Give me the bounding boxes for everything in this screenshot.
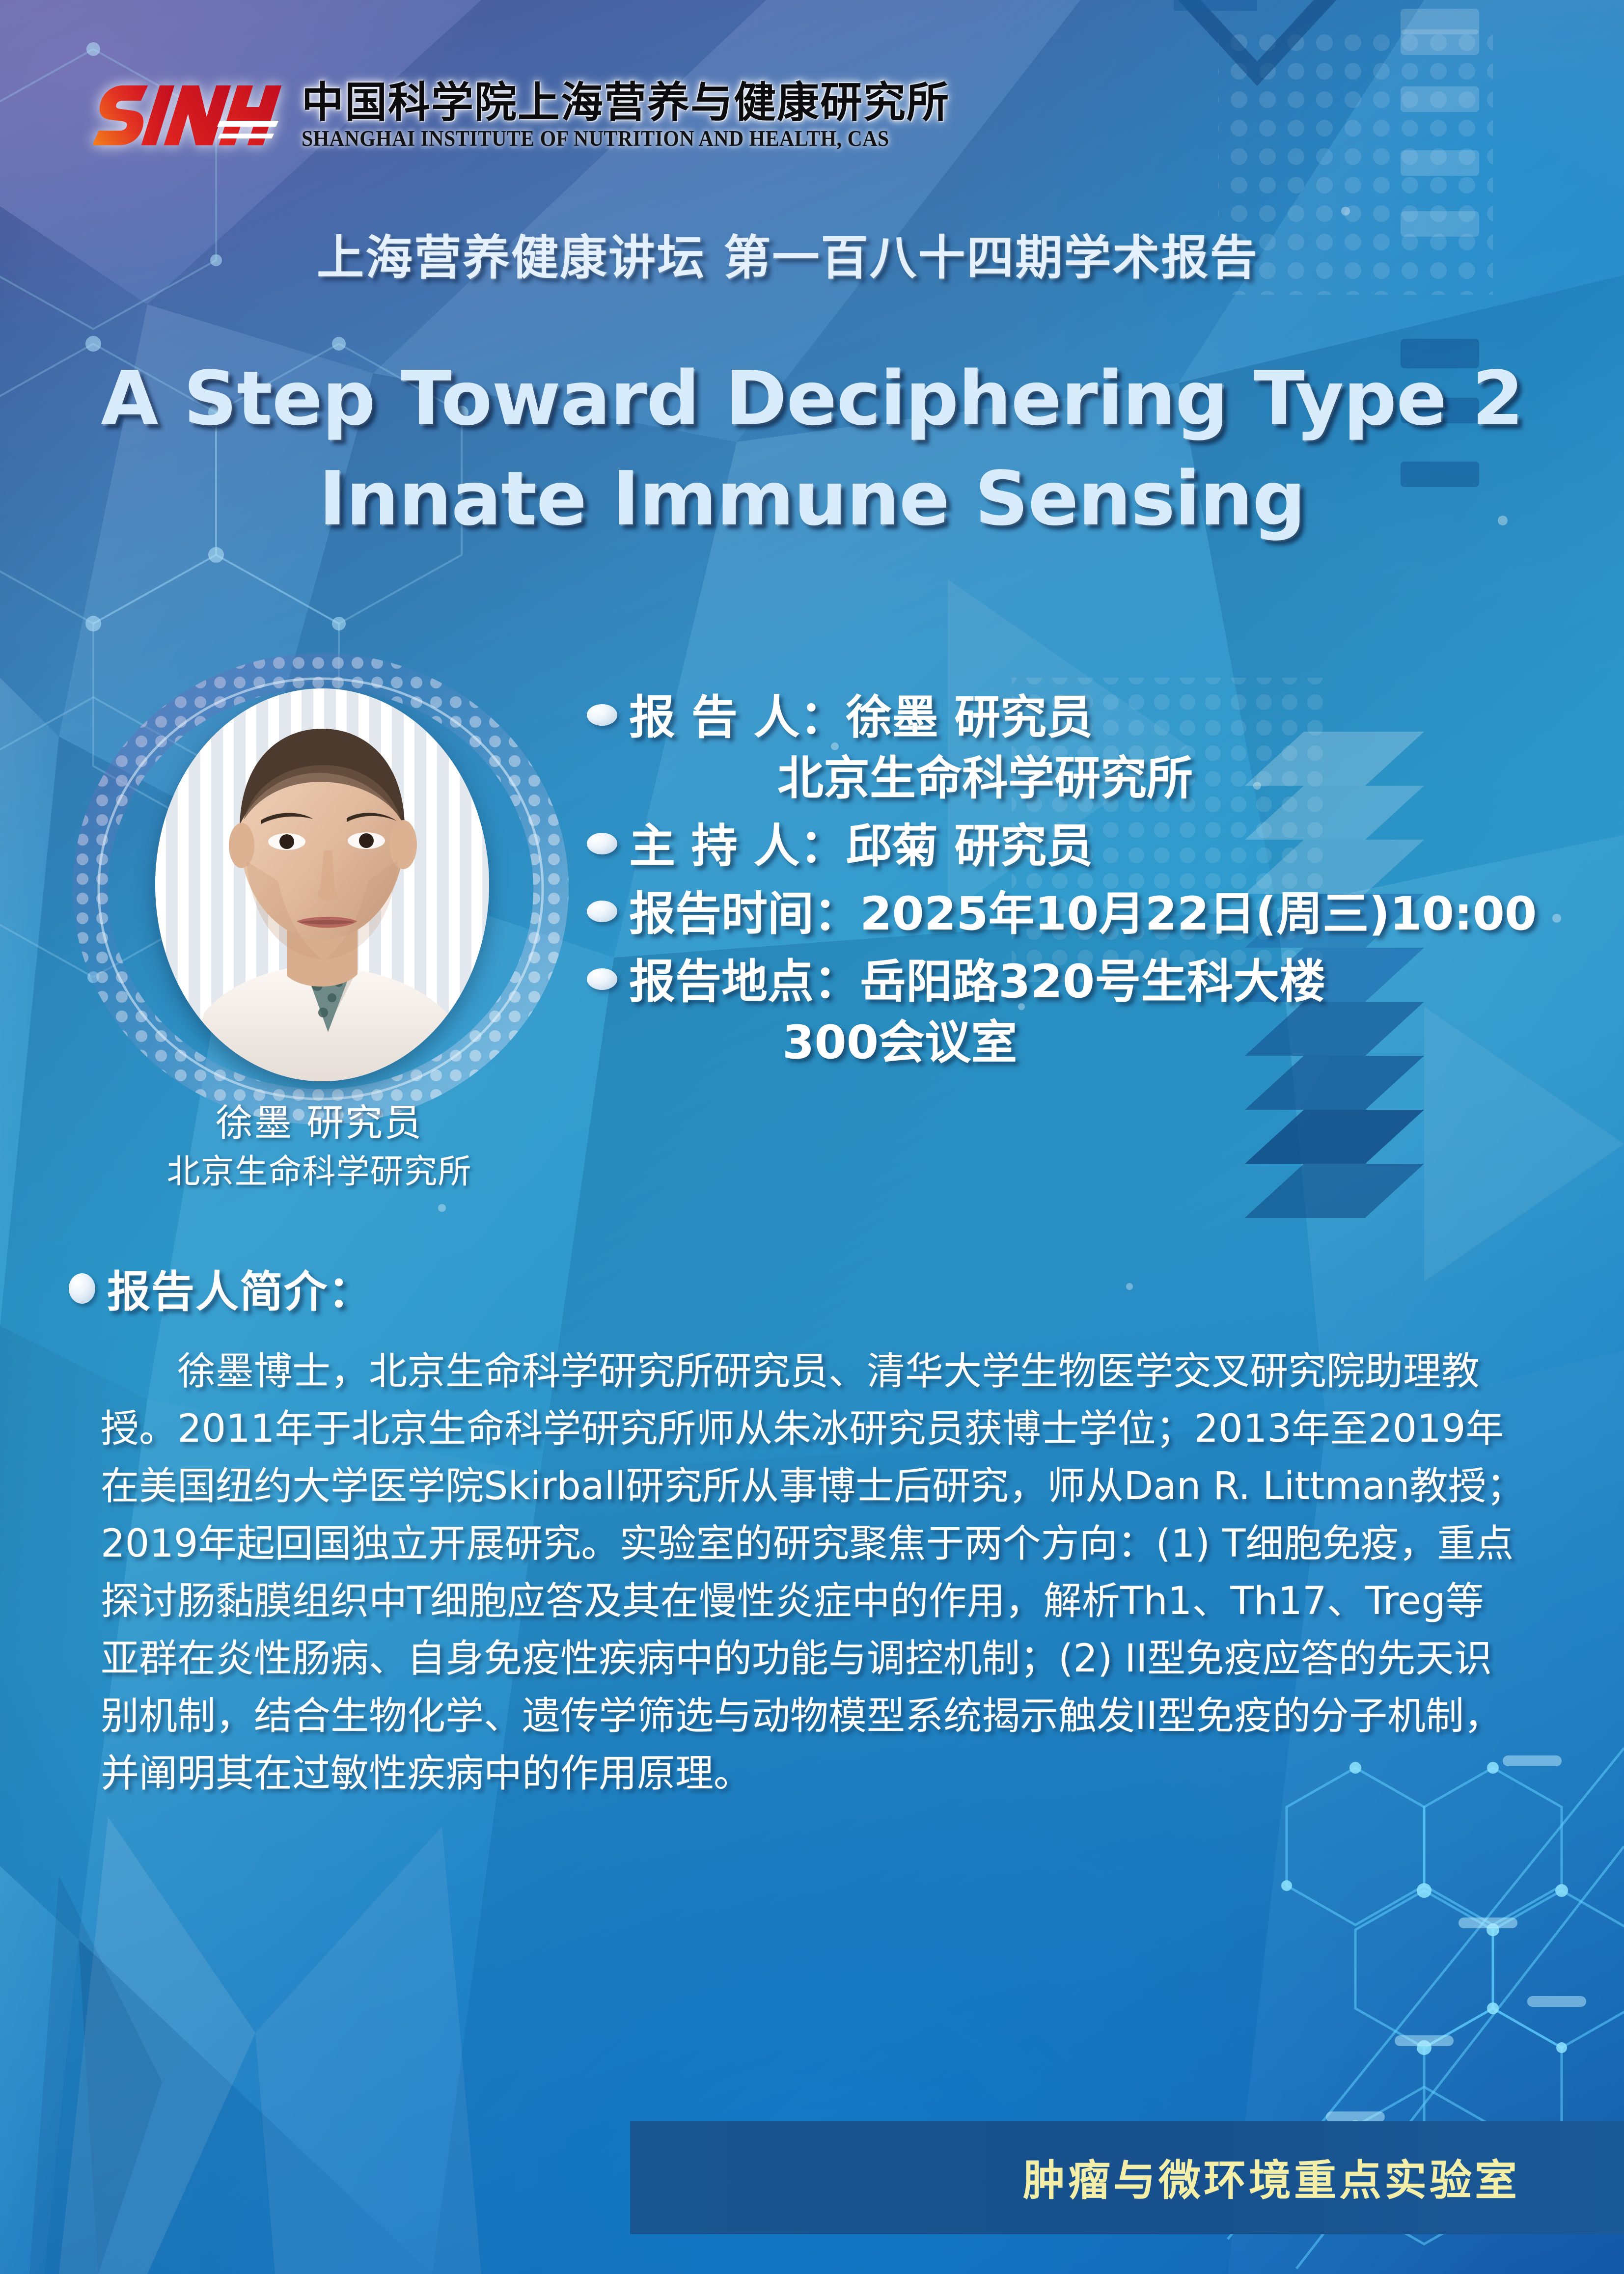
page-title: A Step Toward Deciphering Type 2 Innate … (0, 349, 1624, 548)
bio-line: 授。2011年于北京生命科学研究所师从朱冰研究员获博士学位；2013年至2019… (101, 1400, 1552, 1458)
bullet-oval-icon (587, 968, 617, 990)
info-host-value: 邱菊 研究员 (846, 820, 1093, 873)
bullet-oval-icon (587, 901, 617, 922)
bio-heading: 报告人简介： (69, 1257, 372, 1319)
info-host-label: 主 持 人： (629, 820, 846, 873)
portrait-caption-affiliation: 北京生命科学研究所 (59, 1144, 579, 1193)
info-time-label: 报告时间： (629, 887, 860, 941)
speaker-portrait-block (73, 653, 569, 1124)
lecture-series-subtitle: 上海营养健康讲坛 第一百八十四期学术报告 (317, 219, 1258, 288)
footer-lab-name: 肿瘤与微环境重点实验室 (1023, 2146, 1520, 2207)
info-row-venue: 报告地点：岳阳路320号生科大楼 300会议室 (587, 952, 1564, 1073)
bio-line: 别机制，结合生物化学、遗传学筛选与动物模型系统揭示触发II型免疫的分子机制， (101, 1688, 1552, 1745)
bullet-oval-icon (69, 1273, 95, 1304)
sinh-logo-icon (93, 79, 285, 152)
info-speaker-label: 报 告 人： (629, 691, 846, 744)
bio-paragraph: 徐墨博士，北京生命科学研究所研究员、清华大学生物医学交叉研究院助理教 授。201… (101, 1343, 1552, 1803)
bullet-oval-icon (587, 704, 617, 726)
portrait-caption-name: 徐墨 研究员 (59, 1093, 579, 1147)
bio-line: 徐墨博士，北京生命科学研究所研究员、清华大学生物医学交叉研究院助理教 (101, 1343, 1552, 1400)
speaker-photo (155, 688, 489, 1081)
info-speaker-affiliation: 北京生命科学研究所 (629, 748, 1564, 809)
info-speaker-line: 报 告 人：徐墨 研究员 (629, 687, 1564, 748)
bio-line: 探讨肠黏膜组织中T细胞应答及其在慢性炎症中的作用，解析Th1、Th17、Treg… (101, 1573, 1552, 1630)
institute-name-en: SHANGHAI INSTITUTE OF NUTRITION AND HEAL… (302, 128, 905, 150)
info-time-value: 2025年10月22日(周三)10:00 (860, 887, 1537, 941)
title-line-2: Innate Immune Sensing (0, 449, 1624, 549)
info-speaker-value: 徐墨 研究员 (846, 691, 1093, 744)
bio-heading-text: 报告人简介： (107, 1257, 372, 1319)
info-time-line: 报告时间：2025年10月22日(周三)10:00 (629, 884, 1564, 945)
poster-canvas: 中国科学院上海营养与健康研究所 SHANGHAI INSTITUTE OF NU… (0, 0, 1624, 2274)
bio-line: 2019年起回国独立开展研究。实验室的研究聚焦于两个方向：(1) T细胞免疫，重… (101, 1515, 1552, 1573)
info-venue-line: 报告地点：岳阳路320号生科大楼 (629, 952, 1564, 1013)
title-line-1: A Step Toward Deciphering Type 2 (0, 349, 1624, 449)
institute-name-cn: 中国科学院上海营养与健康研究所 (302, 82, 950, 124)
bio-line: 在美国纽约大学医学院Skirball研究所从事博士后研究，师从Dan R. Li… (101, 1458, 1552, 1515)
poster-header: 中国科学院上海营养与健康研究所 SHANGHAI INSTITUTE OF NU… (93, 69, 950, 162)
bio-line: 亚群在炎性肠病、自身免疫性疾病中的功能与调控机制；(2) II型免疫应答的先天识 (101, 1630, 1552, 1688)
info-venue-room: 300会议室 (629, 1013, 1564, 1073)
lecture-info-block: 报 告 人：徐墨 研究员 北京生命科学研究所 主 持 人：邱菊 研究员 报告时间… (587, 687, 1564, 1080)
info-row-host: 主 持 人：邱菊 研究员 (587, 816, 1564, 877)
info-venue-label: 报告地点： (629, 955, 860, 1009)
info-host-line: 主 持 人：邱菊 研究员 (629, 816, 1564, 877)
bio-line: 并阐明其在过敏性疾病中的作用原理。 (101, 1745, 1552, 1803)
bullet-oval-icon (587, 833, 617, 854)
info-row-speaker: 报 告 人：徐墨 研究员 北京生命科学研究所 (587, 687, 1564, 809)
info-venue-value: 岳阳路320号生科大楼 (860, 955, 1325, 1009)
info-row-time: 报告时间：2025年10月22日(周三)10:00 (587, 884, 1564, 945)
